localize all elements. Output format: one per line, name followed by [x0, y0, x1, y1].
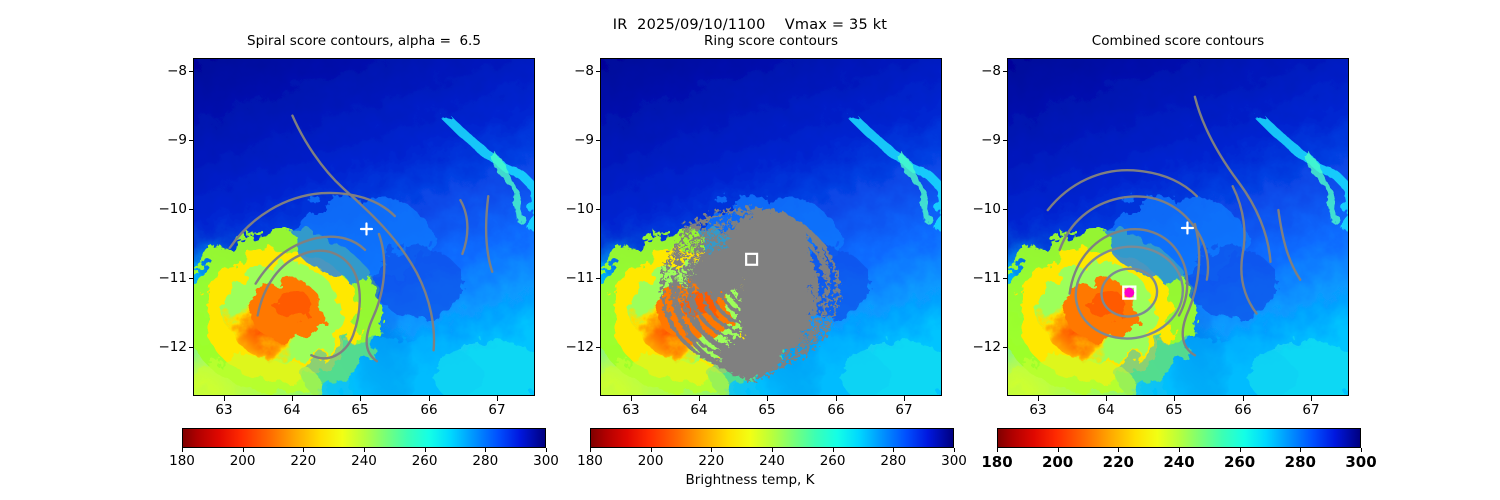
colorbar-tick-label: 300	[931, 453, 977, 469]
ytick-label: −12	[127, 339, 187, 355]
ytick-label: −10	[941, 201, 1001, 217]
ytick-label: −10	[127, 201, 187, 217]
colorbar-tick-label: 280	[462, 453, 508, 469]
colorbar-tick-label: 220	[1095, 453, 1141, 471]
colorbar-tick-label: 260	[402, 453, 448, 469]
xtick-label: 67	[1291, 402, 1331, 418]
panel-spiral-title: Spiral score contours, alpha = 6.5	[133, 33, 595, 49]
panel-combined: Combined score contours	[1007, 58, 1349, 396]
ytick-label: −11	[127, 270, 187, 286]
xtick-label: 66	[816, 402, 856, 418]
colorbar-tick-label: 180	[974, 453, 1020, 471]
xtick-label: 65	[340, 402, 380, 418]
colorbar-tick-label: 200	[628, 453, 674, 469]
ytick-label: −11	[534, 270, 594, 286]
xtick-label: 63	[204, 402, 244, 418]
xtick-label: 66	[1223, 402, 1263, 418]
colorbar-tick-label: 260	[1217, 453, 1263, 471]
ytick-label: −11	[941, 270, 1001, 286]
colorbar-spiral[interactable]: 180 200 220 240 260 280 300	[182, 428, 546, 448]
xtick-label: 66	[409, 402, 449, 418]
panel-ring-title: Ring score contours	[540, 33, 1002, 49]
ytick-label: −9	[127, 132, 187, 148]
xtick-label: 64	[272, 402, 312, 418]
panel-spiral-ticks: −8 −9 −10 −11 −12 63 64 65 66 67	[193, 58, 535, 396]
ytick-label: −12	[534, 339, 594, 355]
colorbar-tick-label: 280	[870, 453, 916, 469]
colorbar-gradient-spiral	[182, 428, 546, 448]
colorbar-tick-label: 300	[523, 453, 569, 469]
colorbar-tick-label: 260	[810, 453, 856, 469]
ytick-label: −8	[941, 63, 1001, 79]
xtick-label: 65	[1154, 402, 1194, 418]
colorbar-tick-label: 220	[280, 453, 326, 469]
colorbar-combined[interactable]: 180 200 220 240 260 280 300	[997, 428, 1361, 448]
xtick-label: 63	[1018, 402, 1058, 418]
panel-combined-ticks: −8 −9 −10 −11 −12 63 64 65 66 67	[1007, 58, 1349, 396]
colorbar-tick-label: 200	[220, 453, 266, 469]
colorbar-tick-label: 240	[341, 453, 387, 469]
ytick-label: −8	[127, 63, 187, 79]
xtick-label: 64	[679, 402, 719, 418]
panel-spiral: Spiral score contours, alpha = 6.5	[193, 58, 535, 396]
colorbar-tick-label: 180	[567, 453, 613, 469]
xtick-label: 67	[477, 402, 517, 418]
colorbar-tick-label: 240	[749, 453, 795, 469]
colorbar-gradient-combined	[997, 428, 1361, 448]
colorbar-tick-label: 200	[1035, 453, 1081, 471]
ytick-label: −8	[534, 63, 594, 79]
figure-suptitle: IR 2025/09/10/1100 Vmax = 35 kt	[0, 17, 1500, 33]
colorbar-ring[interactable]: 180 200 220 240 260 280 300	[590, 428, 954, 448]
colorbar-gradient-ring	[590, 428, 954, 448]
ytick-label: −12	[941, 339, 1001, 355]
ytick-label: −9	[534, 132, 594, 148]
panel-ring-ticks: −8 −9 −10 −11 −12 63 64 65 66 67	[600, 58, 942, 396]
ytick-label: −10	[534, 201, 594, 217]
panel-ring: Ring score contours	[600, 58, 942, 396]
xtick-label: 63	[611, 402, 651, 418]
ytick-label: −9	[941, 132, 1001, 148]
xtick-label: 65	[747, 402, 787, 418]
colorbar-axis-label: Brightness temp, K	[0, 472, 1500, 488]
colorbar-tick-label: 300	[1338, 453, 1384, 471]
panel-combined-title: Combined score contours	[947, 33, 1409, 49]
colorbar-tick-label: 220	[688, 453, 734, 469]
xtick-label: 67	[884, 402, 924, 418]
colorbar-tick-label: 180	[159, 453, 205, 469]
figure-canvas: IR 2025/09/10/1100 Vmax = 35 kt Spiral s…	[0, 0, 1500, 500]
colorbar-tick-label: 240	[1156, 453, 1202, 471]
xtick-label: 64	[1086, 402, 1126, 418]
colorbar-tick-label: 280	[1277, 453, 1323, 471]
